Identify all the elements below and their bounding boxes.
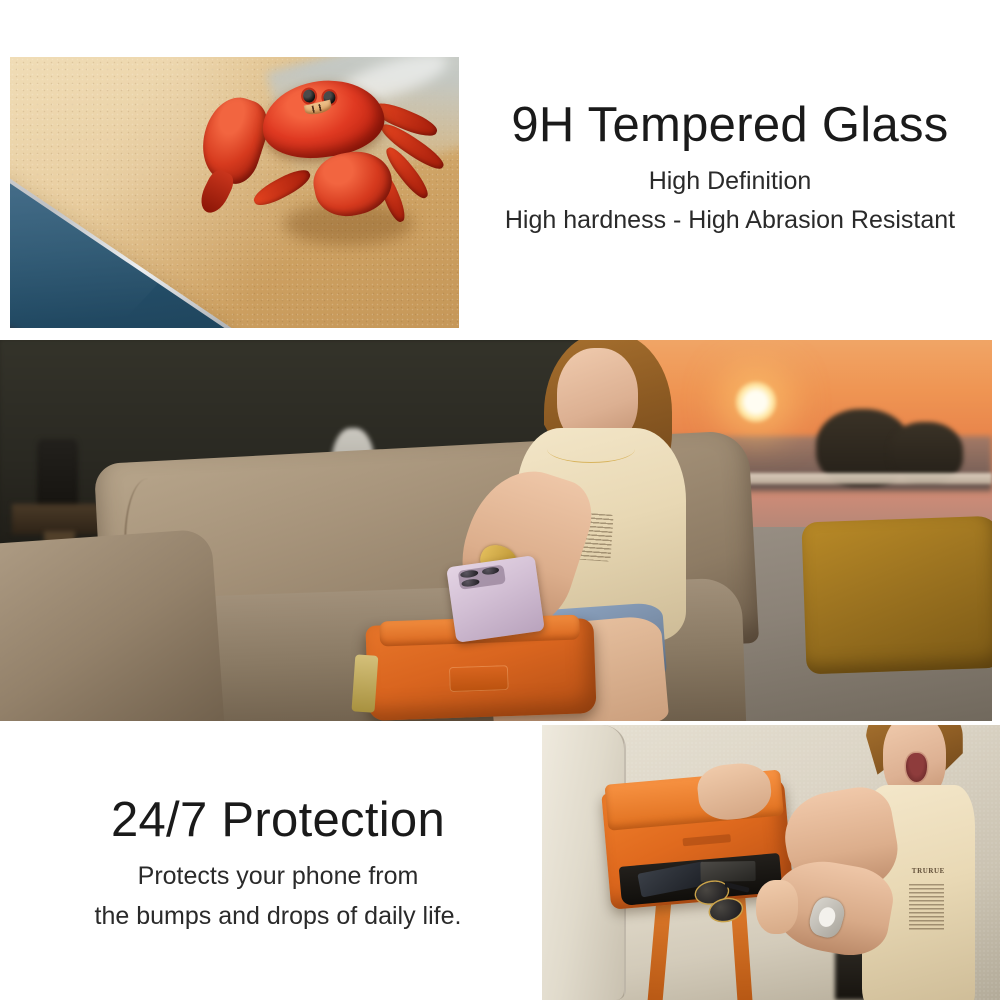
red-crab — [194, 68, 454, 279]
necklace — [547, 435, 635, 463]
bag-strap — [352, 654, 379, 713]
bag-logo-patch — [449, 665, 509, 692]
crab-carapace — [258, 73, 389, 163]
protection-line-1: Protects your phone from — [28, 861, 528, 892]
woman-spilling-bag-photo: TRURUE — [542, 725, 1000, 1000]
camera-module — [458, 564, 507, 590]
lavender-smartphone — [446, 555, 545, 643]
protection-block: 24/7 Protection Protects your phone from… — [28, 795, 528, 932]
camera-lens — [462, 578, 480, 588]
camera-lens — [461, 569, 479, 579]
woman-shocked: TRURUE — [798, 725, 1000, 1000]
protection-line-2: the bumps and drops of daily life. — [28, 901, 528, 932]
crab-leg — [251, 164, 315, 210]
shirt-brand-text: TRURUE — [912, 867, 941, 875]
sofa-armrest — [0, 529, 225, 721]
protection-title: 24/7 Protection — [28, 795, 528, 847]
product-infographic: 9H Tempered Glass High Definition High h… — [0, 0, 1000, 1000]
ochre-cushion — [801, 516, 992, 675]
headline-subtitle: High Definition — [468, 166, 992, 196]
decor-jar — [37, 439, 78, 511]
shirt-print: TRURUE — [907, 867, 946, 935]
camera-lens — [482, 566, 500, 576]
woman-placing-phone-in-bag-photo — [0, 340, 992, 721]
page-title: 9H Tempered Glass — [468, 100, 992, 152]
shirt-paragraph-text — [909, 884, 945, 931]
headline-block: 9H Tempered Glass High Definition High h… — [468, 100, 992, 235]
crab-phone-beach-photo — [10, 57, 459, 328]
crab-eye — [302, 88, 315, 102]
headline-tagline: High hardness - High Abrasion Resistant — [468, 205, 992, 235]
hand — [756, 880, 798, 933]
bag-logo-patch — [682, 833, 730, 845]
crab-claw-left — [193, 90, 276, 189]
